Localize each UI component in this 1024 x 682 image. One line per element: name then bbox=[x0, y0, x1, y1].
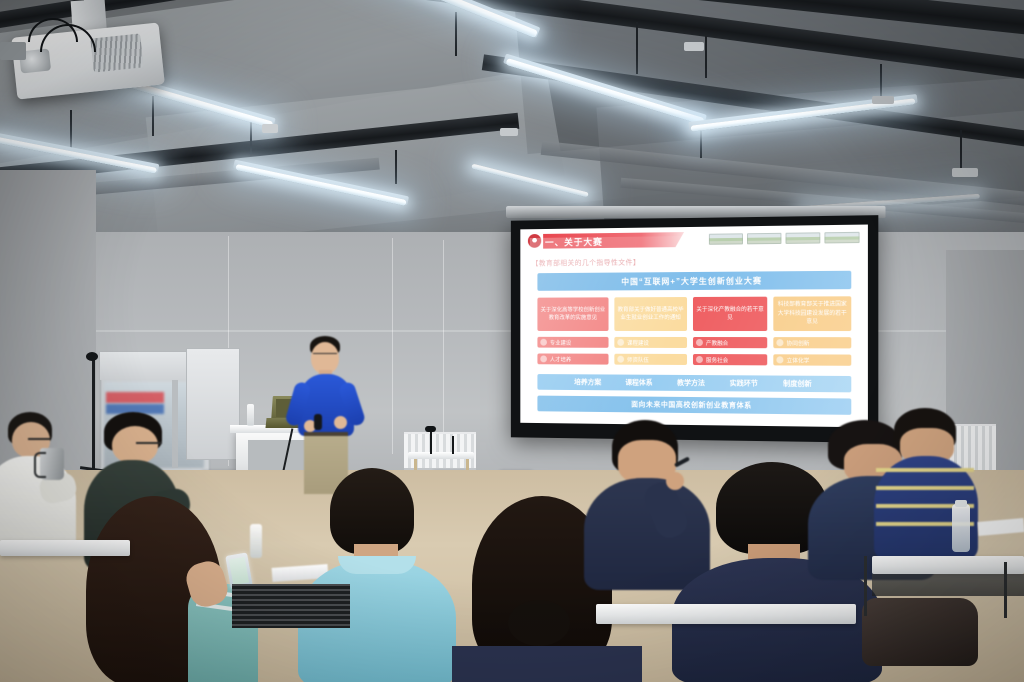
table-microphone bbox=[452, 436, 454, 454]
classroom-photo: 一、关于大赛 【教育部相关的几个指导性文件】 中国“互联网+”大学生创新创业大赛… bbox=[0, 0, 1024, 682]
desk bbox=[596, 604, 856, 624]
projector-vents bbox=[90, 33, 143, 72]
slide-subtitle: 【教育部相关的几个指导性文件】 bbox=[532, 257, 641, 268]
slide-tag: 产教融合 bbox=[693, 337, 767, 348]
university-emblem-icon bbox=[528, 234, 541, 248]
slide-tag-label: 服务社会 bbox=[706, 356, 728, 364]
slide-tag: 专业建设 bbox=[537, 337, 608, 348]
book-icon bbox=[617, 339, 624, 346]
eyeglasses-icon bbox=[28, 438, 50, 443]
presenter-hand-right bbox=[334, 416, 347, 429]
slide-pillar-row: 培养方案 课程体系 教学方法 实践环节 制度创新 bbox=[537, 374, 851, 392]
wall-panel bbox=[186, 348, 240, 460]
polo-collar bbox=[338, 556, 416, 574]
gear-icon bbox=[776, 339, 783, 346]
slide-tag: 师资队伍 bbox=[614, 354, 687, 365]
water-bottle bbox=[247, 404, 254, 426]
audience-torso bbox=[452, 646, 642, 682]
dark-backpack bbox=[862, 598, 978, 666]
policy-box-text: 科技部教育部关于推进国家大学科技园建设发展的若干意见 bbox=[776, 301, 848, 327]
kettle-handle bbox=[34, 452, 46, 478]
water-bottle-cap bbox=[955, 500, 967, 507]
campus-photo-4-icon bbox=[824, 232, 859, 244]
presenter-belt bbox=[304, 432, 348, 436]
slide-tag: 服务社会 bbox=[693, 354, 767, 365]
outdoor-banner-red bbox=[106, 392, 164, 403]
book-icon bbox=[617, 356, 624, 363]
policy-box: 关于深化产教融合的若干意见 bbox=[693, 297, 767, 331]
slide-main-banner: 中国“互联网+”大学生创新创业大赛 bbox=[537, 271, 851, 291]
water-bottle bbox=[952, 504, 970, 552]
pillar-item: 教学方法 bbox=[677, 378, 705, 388]
slide-footer-banner: 面向未来中国高校创新创业教育体系 bbox=[537, 396, 851, 415]
desk-front-panel bbox=[872, 574, 1024, 596]
handheld-microphone bbox=[314, 414, 322, 430]
ceiling bbox=[0, 0, 1024, 238]
chair-leg bbox=[1004, 562, 1007, 618]
desk bbox=[0, 540, 130, 556]
slide-tag-label: 立体化学 bbox=[787, 356, 810, 364]
pencil-icon bbox=[540, 355, 547, 362]
projection-screen: 一、关于大赛 【教育部相关的几个指导性文件】 中国“互联网+”大学生创新创业大赛… bbox=[511, 215, 878, 443]
medal-icon bbox=[696, 356, 703, 363]
shirt-stripe bbox=[876, 468, 974, 472]
slide-footer-text: 面向未来中国高校创新创业教育体系 bbox=[631, 399, 752, 410]
side-table bbox=[408, 452, 474, 459]
slide-tag: 立体化学 bbox=[773, 354, 851, 366]
slide-tag-label: 师资队伍 bbox=[627, 355, 649, 363]
medal-icon bbox=[696, 339, 703, 346]
slide-tag-label: 专业建设 bbox=[550, 338, 571, 346]
pillar-item: 课程体系 bbox=[625, 378, 652, 388]
slide-tag-label: 课程建设 bbox=[627, 338, 649, 346]
pillar-item: 制度创新 bbox=[783, 379, 812, 389]
campus-photo-2-icon bbox=[747, 233, 781, 245]
policy-box-text: 教育部关于做好普通高校毕业生就业创业工作的通知 bbox=[617, 306, 684, 323]
audience-hair bbox=[330, 468, 414, 554]
table-microphone-head bbox=[425, 426, 436, 432]
policy-box: 科技部教育部关于推进国家大学科技园建设发展的若干意见 bbox=[773, 296, 851, 331]
slide-title: 一、关于大赛 bbox=[545, 235, 603, 248]
water-bottle bbox=[250, 524, 262, 558]
table-microphone bbox=[430, 430, 432, 454]
campus-photo-1-icon bbox=[709, 233, 743, 244]
gear-icon bbox=[776, 356, 783, 363]
policy-box-text: 关于深化产教融合的若干意见 bbox=[696, 305, 764, 322]
eyeglasses-icon bbox=[136, 442, 162, 447]
slide-tag: 课程建设 bbox=[614, 337, 687, 348]
desk bbox=[872, 556, 1024, 574]
slide-tag: 协同创新 bbox=[773, 337, 851, 348]
pillar-item: 培养方案 bbox=[574, 377, 601, 387]
slide-tag-label: 人才培养 bbox=[550, 355, 571, 363]
policy-box-text: 关于深化高等学校创新创业教育改革的实施意见 bbox=[540, 306, 605, 323]
policy-box: 关于深化高等学校创新创业教育改革的实施意见 bbox=[537, 297, 608, 331]
pencil-icon bbox=[540, 339, 547, 346]
desk-front-panel bbox=[232, 584, 350, 628]
campus-photo-3-icon bbox=[786, 232, 821, 244]
eyeglasses-icon bbox=[313, 353, 337, 358]
shirt-stripe bbox=[876, 486, 974, 490]
policy-box: 教育部关于做好普通高校毕业生就业创业工作的通知 bbox=[614, 297, 687, 331]
presentation-slide: 一、关于大赛 【教育部相关的几个指导性文件】 中国“互联网+”大学生创新创业大赛… bbox=[520, 225, 868, 428]
pillar-item: 实践环节 bbox=[730, 378, 758, 388]
microphone-head bbox=[86, 352, 98, 361]
hair-bun bbox=[508, 600, 570, 646]
chair-leg bbox=[864, 556, 867, 616]
slide-tag-label: 协同创新 bbox=[787, 339, 810, 347]
slide-main-banner-text: 中国“互联网+”大学生创新创业大赛 bbox=[621, 275, 762, 287]
slide-tag: 人才培养 bbox=[537, 353, 608, 364]
slide-tag-label: 产教融合 bbox=[706, 339, 728, 347]
